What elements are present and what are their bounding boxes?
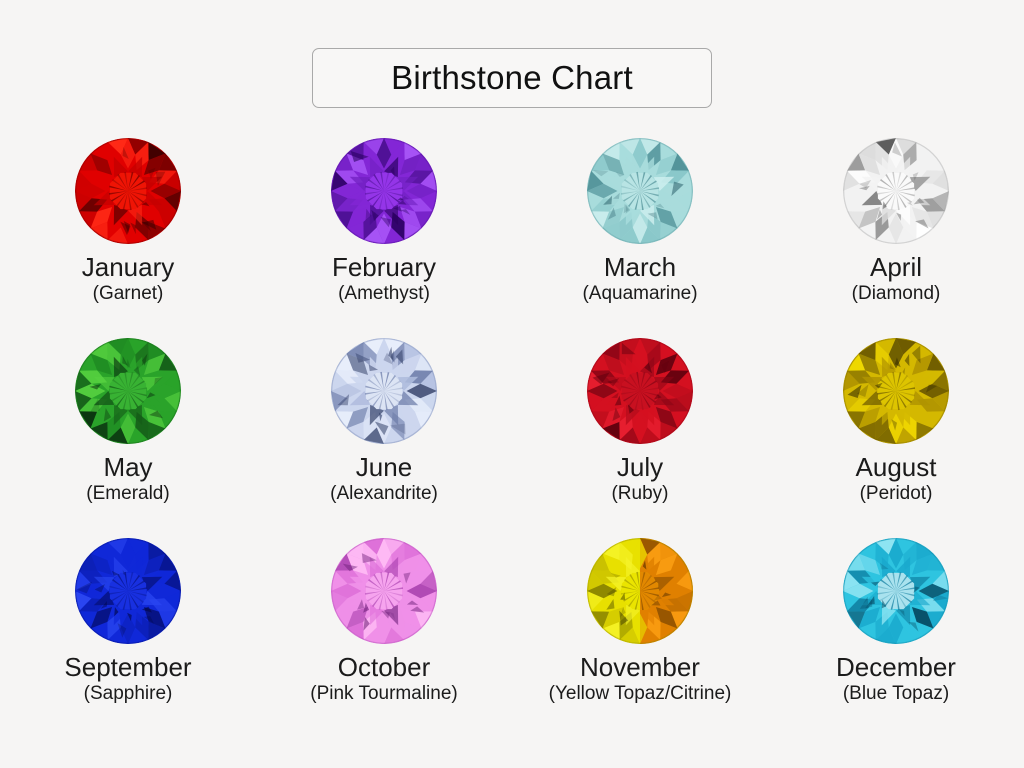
birthstone-row: May(Emerald)June(Alexandrite)July(Ruby)A…	[0, 338, 1024, 538]
month-label: May	[103, 453, 152, 481]
month-label: September	[64, 653, 191, 681]
gemstone-icon-alexandrite	[331, 338, 437, 444]
birthstone-cell-july[interactable]: July(Ruby)	[512, 338, 768, 538]
page-title: Birthstone Chart	[391, 59, 633, 97]
birthstone-cell-february[interactable]: February(Amethyst)	[256, 138, 512, 338]
birthstone-cell-june[interactable]: June(Alexandrite)	[256, 338, 512, 538]
gemstone-icon-pink-tourmaline	[331, 538, 437, 644]
stone-label: (Alexandrite)	[330, 484, 438, 505]
month-label: August	[856, 453, 937, 481]
birthstone-cell-december[interactable]: December(Blue Topaz)	[768, 538, 1024, 738]
stone-label: (Peridot)	[860, 484, 933, 505]
stone-label: (Emerald)	[86, 484, 169, 505]
birthstone-cell-november[interactable]: November(Yellow Topaz/Citrine)	[512, 538, 768, 738]
stone-label: (Yellow Topaz/Citrine)	[549, 684, 732, 705]
birthstone-cell-march[interactable]: March(Aquamarine)	[512, 138, 768, 338]
gemstone-icon-sapphire	[75, 538, 181, 644]
birthstone-cell-august[interactable]: August(Peridot)	[768, 338, 1024, 538]
birthstone-cell-april[interactable]: April(Diamond)	[768, 138, 1024, 338]
gemstone-icon-diamond	[843, 138, 949, 244]
birthstone-cell-january[interactable]: January(Garnet)	[0, 138, 256, 338]
gemstone-icon-yellow-topaz-citrine	[587, 538, 693, 644]
month-label: March	[604, 253, 676, 281]
birthstone-cell-october[interactable]: October(Pink Tourmaline)	[256, 538, 512, 738]
month-label: April	[870, 253, 922, 281]
gemstone-icon-ruby	[587, 338, 693, 444]
month-label: November	[580, 653, 700, 681]
month-label: February	[332, 253, 436, 281]
stone-label: (Sapphire)	[84, 684, 173, 705]
gemstone-icon-aquamarine	[587, 138, 693, 244]
birthstone-row: September(Sapphire)October(Pink Tourmali…	[0, 538, 1024, 738]
gemstone-icon-garnet	[75, 138, 181, 244]
gemstone-icon-emerald	[75, 338, 181, 444]
birthstone-grid: January(Garnet)February(Amethyst)March(A…	[0, 138, 1024, 738]
stone-label: (Ruby)	[611, 484, 668, 505]
stone-label: (Amethyst)	[338, 284, 430, 305]
stone-label: (Diamond)	[852, 284, 941, 305]
month-label: July	[617, 453, 663, 481]
birthstone-cell-may[interactable]: May(Emerald)	[0, 338, 256, 538]
month-label: June	[356, 453, 412, 481]
gemstone-icon-amethyst	[331, 138, 437, 244]
stone-label: (Blue Topaz)	[843, 684, 949, 705]
stone-label: (Pink Tourmaline)	[310, 684, 457, 705]
gemstone-icon-peridot	[843, 338, 949, 444]
stone-label: (Aquamarine)	[582, 284, 697, 305]
birthstone-row: January(Garnet)February(Amethyst)March(A…	[0, 138, 1024, 338]
chart-title-box: Birthstone Chart	[312, 48, 712, 108]
stone-label: (Garnet)	[93, 284, 164, 305]
month-label: October	[338, 653, 431, 681]
gemstone-icon-blue-topaz	[843, 538, 949, 644]
month-label: January	[82, 253, 175, 281]
month-label: December	[836, 653, 956, 681]
birthstone-cell-september[interactable]: September(Sapphire)	[0, 538, 256, 738]
